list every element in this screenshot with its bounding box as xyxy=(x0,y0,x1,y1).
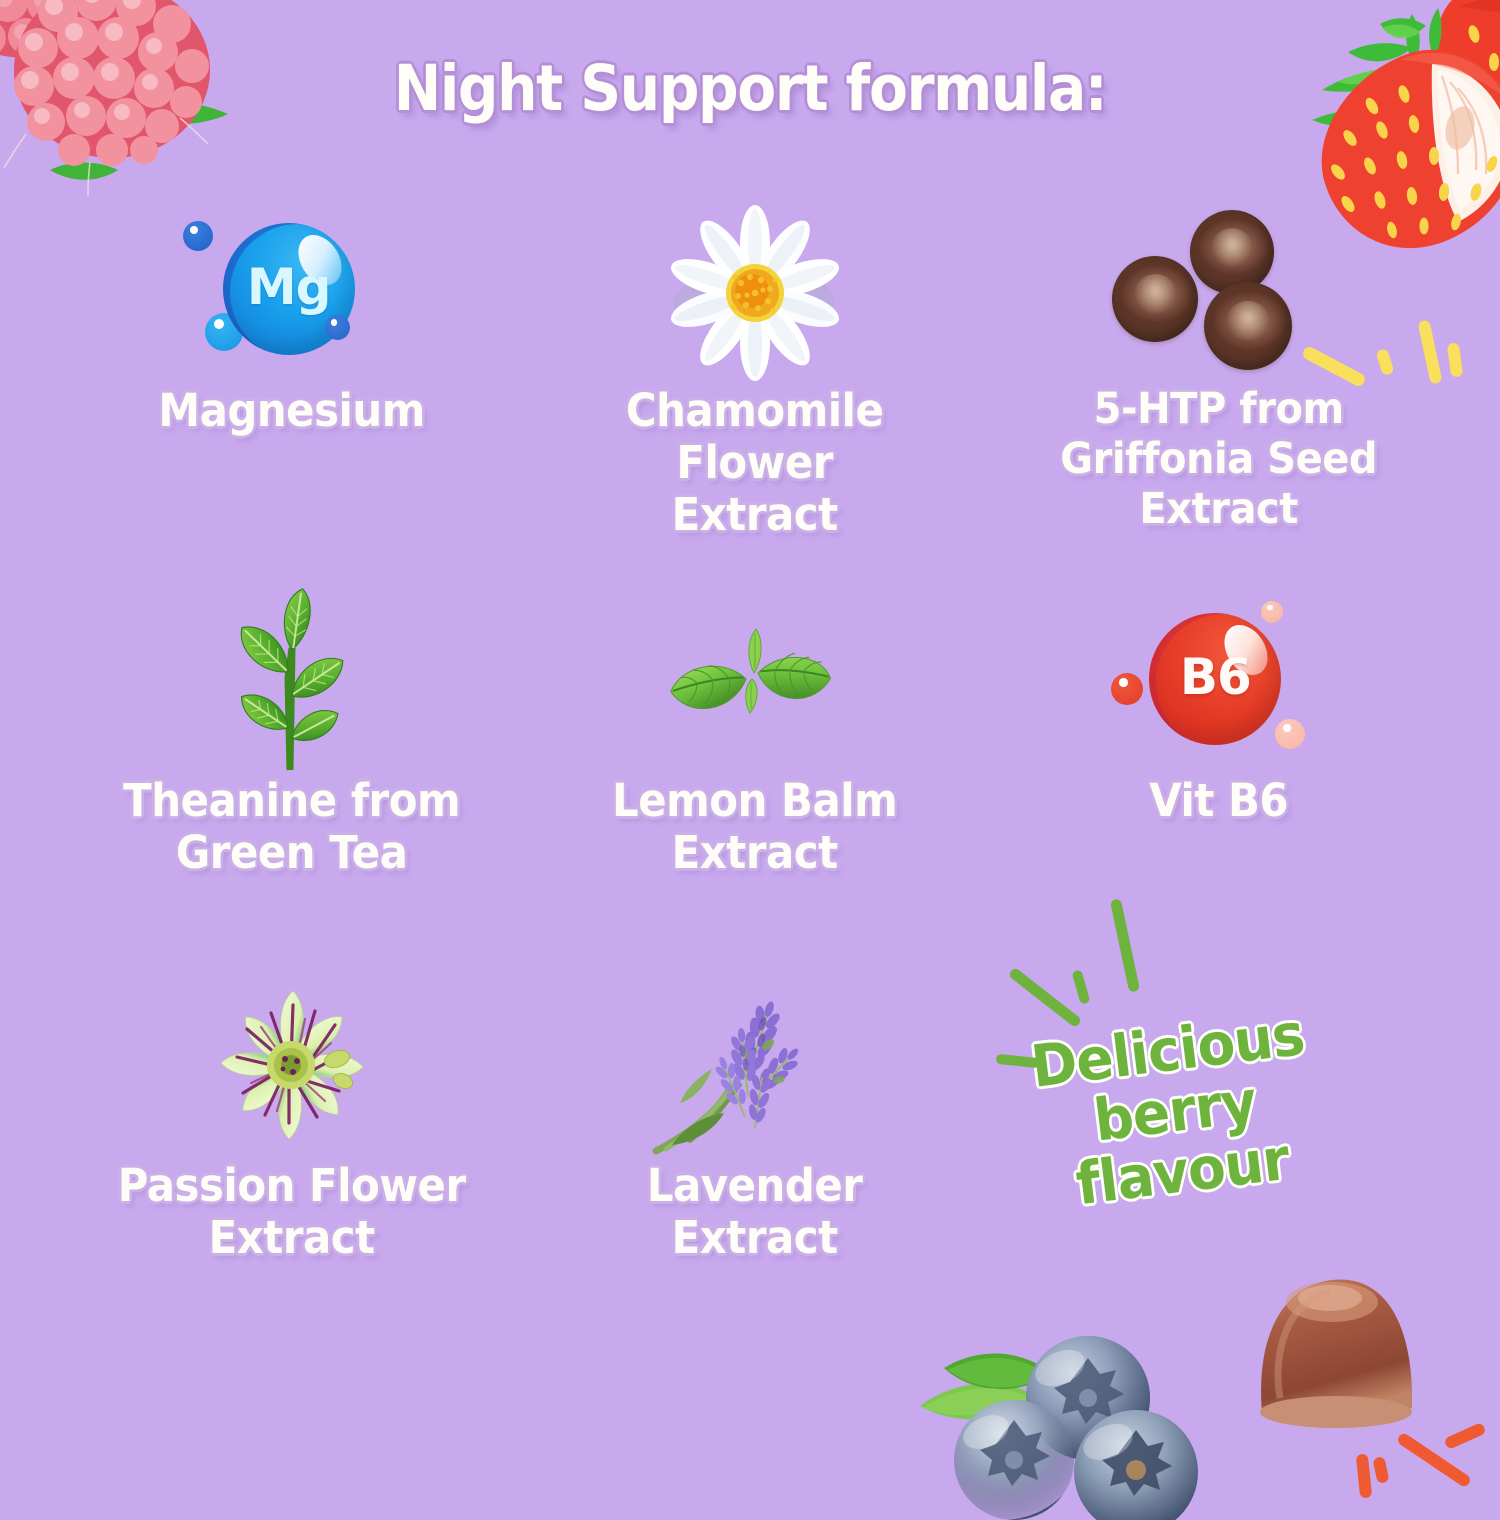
vitamin-symbol: B6 xyxy=(1149,613,1281,745)
chamomile-flower-icon xyxy=(655,205,855,385)
ingredient-card-lemon-balm: Lemon Balm Extract xyxy=(523,595,986,980)
green-tea-leaves-icon xyxy=(192,588,392,783)
ingredient-label: Theanine from Green Tea xyxy=(76,775,507,879)
lavender-art xyxy=(523,980,986,1160)
lemon-balm-leaves-icon xyxy=(650,613,860,758)
ingredient-card-magnesium: Mg Magnesium xyxy=(60,205,523,595)
ingredient-label: Passion Flower Extract xyxy=(76,1160,507,1264)
green-sparkle-rays xyxy=(960,920,1190,1100)
ingredient-card-chamomile: Chamomile Flower Extract xyxy=(523,205,986,595)
ingredient-label: Lavender Extract xyxy=(540,1160,971,1264)
green-tea-art xyxy=(60,595,523,775)
ingredient-label: Vit B6 xyxy=(1003,775,1434,827)
bubble-icon xyxy=(325,315,350,340)
ingredient-label: Lemon Balm Extract xyxy=(540,775,971,879)
bubble-icon xyxy=(1275,719,1305,749)
chamomile-art xyxy=(523,205,986,385)
seed-icon xyxy=(1112,256,1198,342)
yellow-sparkle-rays xyxy=(1290,300,1500,430)
magnesium-sphere-icon: Mg xyxy=(177,205,407,385)
strawberry-top-right xyxy=(1262,0,1500,318)
ingredient-label: Magnesium xyxy=(76,385,507,437)
raspberries-top-left xyxy=(0,0,260,212)
sphere-body: B6 xyxy=(1149,613,1281,745)
vitamin-b6-art: B6 xyxy=(987,595,1450,775)
bubble-icon xyxy=(1111,673,1143,705)
orange-sparkle-rays xyxy=(1340,1404,1500,1514)
page-title: Night Support formula: xyxy=(75,52,1425,125)
ingredient-card-theanine: Theanine from Green Tea xyxy=(60,595,523,980)
blueberries-bottom xyxy=(910,1320,1210,1520)
magnesium-art: Mg xyxy=(60,205,523,385)
lavender-sprig-icon xyxy=(650,973,860,1168)
bubble-icon xyxy=(183,221,213,251)
lemon-balm-art xyxy=(523,595,986,775)
ingredient-label: Chamomile Flower Extract xyxy=(540,385,971,542)
vitamin-b6-sphere-icon: B6 xyxy=(1103,595,1333,775)
passion-flower-art xyxy=(60,980,523,1160)
passion-flower-icon xyxy=(187,973,397,1168)
ingredient-card-lavender: Lavender Extract xyxy=(523,980,986,1370)
ingredient-card-passion-flower: Passion Flower Extract xyxy=(60,980,523,1370)
